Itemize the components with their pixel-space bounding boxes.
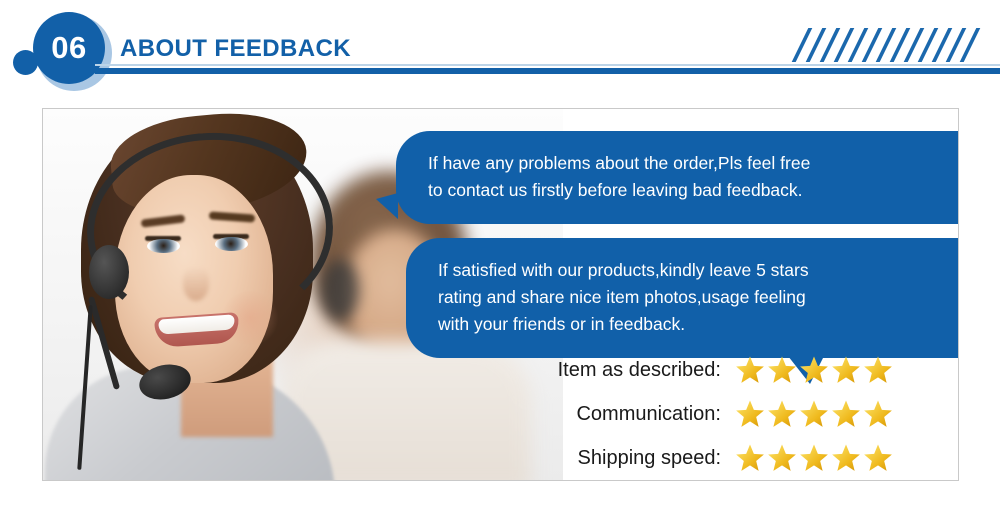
diagonal-stripes-decoration: [800, 28, 985, 62]
star-icon: [735, 443, 765, 473]
star-rating: [735, 399, 893, 429]
star-rating: [735, 443, 893, 473]
star-rating: [735, 355, 893, 385]
section-header: 06 ABOUT FEEDBACK: [0, 0, 1000, 96]
star-icon: [831, 399, 861, 429]
headset-earcup-icon: [89, 245, 129, 299]
star-icon: [767, 355, 797, 385]
star-icon: [863, 355, 893, 385]
header-rule-bold: [95, 68, 1000, 74]
rating-row: Item as described:: [531, 348, 951, 392]
speech-bubble-text: If have any problems about the order,Pls…: [428, 150, 959, 204]
rating-label: Item as described:: [531, 359, 735, 382]
speech-bubble-order-problem: If have any problems about the order,Pls…: [396, 131, 959, 224]
section-number-label: 06: [51, 30, 86, 66]
speech-bubble-leave-rating: If satisfied with our products,kindly le…: [406, 238, 959, 358]
star-icon: [735, 355, 765, 385]
star-icon: [863, 399, 893, 429]
rating-row: Shipping speed:: [531, 436, 951, 480]
star-icon: [799, 355, 829, 385]
star-icon: [799, 399, 829, 429]
star-icon: [863, 443, 893, 473]
star-icon: [831, 355, 861, 385]
speech-bubble-text: If satisfied with our products,kindly le…: [438, 257, 959, 338]
star-icon: [767, 399, 797, 429]
page-title: ABOUT FEEDBACK: [120, 35, 351, 63]
star-icon: [735, 399, 765, 429]
rating-label: Shipping speed:: [531, 447, 735, 470]
rating-row: Communication:: [531, 392, 951, 436]
rating-label: Communication:: [531, 403, 735, 426]
feedback-banner: 06 ABOUT FEEDBACK: [0, 0, 1000, 513]
star-icon: [799, 443, 829, 473]
background-person-headset: [321, 259, 359, 321]
rating-list: Item as described:Communication:Shipping…: [531, 348, 951, 480]
star-icon: [767, 443, 797, 473]
header-rule-light: [95, 64, 1000, 66]
speech-bubble-tail-left: [376, 193, 398, 219]
star-icon: [831, 443, 861, 473]
content-panel: If have any problems about the order,Pls…: [42, 108, 959, 481]
